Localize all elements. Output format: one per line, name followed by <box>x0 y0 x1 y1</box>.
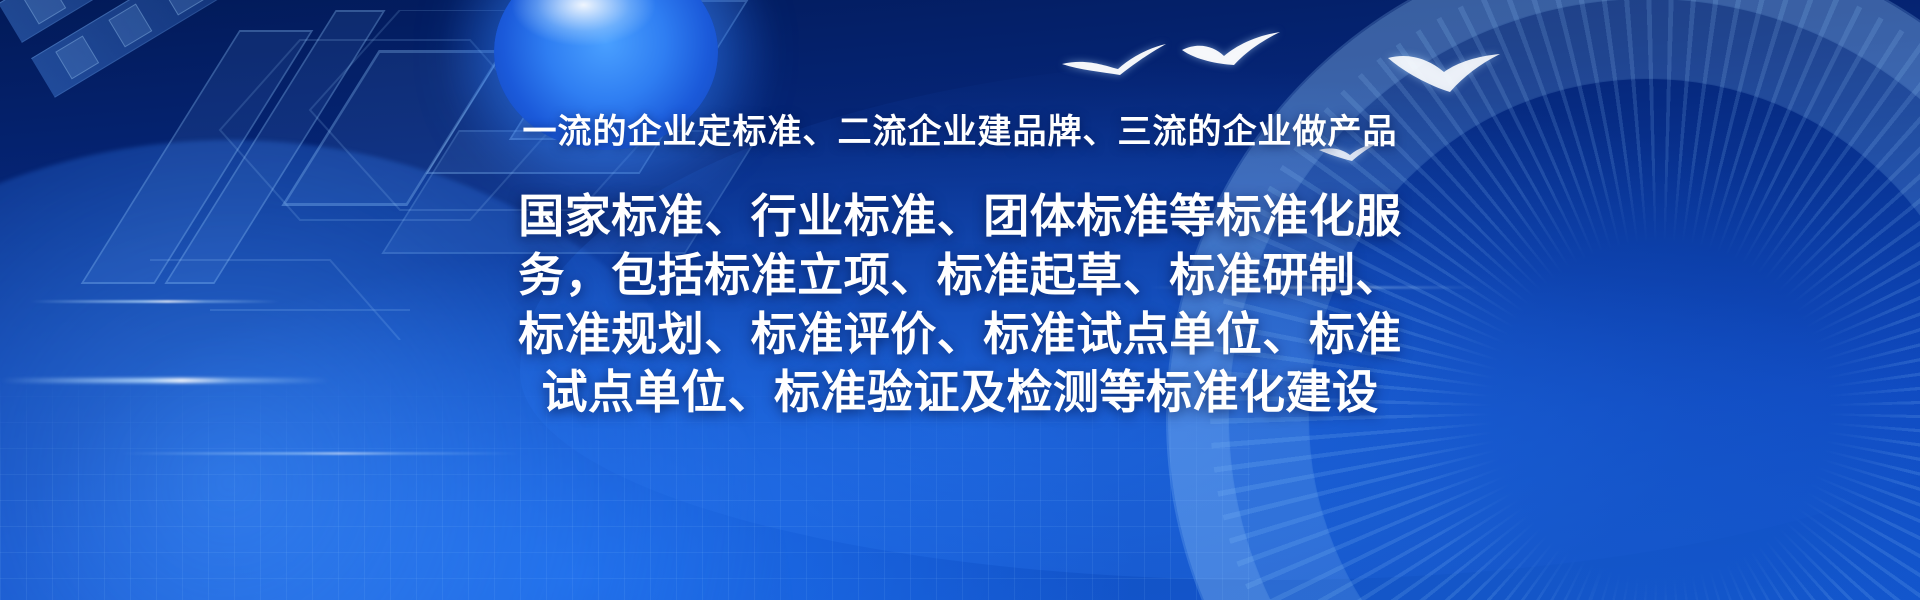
banner-body-line: 标准规划、标准评价、标准试点单位、标准 <box>440 305 1480 364</box>
promo-banner: 一流的企业定标准、二流企业建品牌、三流的企业做产品 国家标准、行业标准、团体标准… <box>0 0 1920 600</box>
banner-body-line: 试点单位、标准验证及检测等标准化建设 <box>440 363 1480 422</box>
banner-content: 一流的企业定标准、二流企业建品牌、三流的企业做产品 国家标准、行业标准、团体标准… <box>0 0 1920 600</box>
banner-body-line: 国家标准、行业标准、团体标准等标准化服 <box>440 187 1480 246</box>
banner-body-line: 务，包括标准立项、标准起草、标准研制、 <box>440 246 1480 305</box>
banner-headline: 一流的企业定标准、二流企业建品牌、三流的企业做产品 <box>523 112 1398 153</box>
banner-body: 国家标准、行业标准、团体标准等标准化服 务，包括标准立项、标准起草、标准研制、 … <box>440 187 1480 423</box>
